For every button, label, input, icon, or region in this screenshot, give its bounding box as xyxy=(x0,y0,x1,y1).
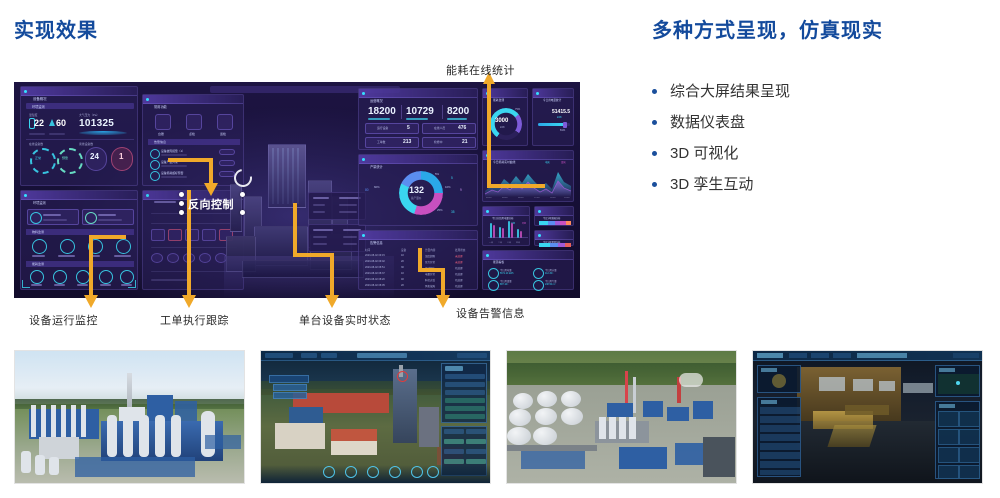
twin-clock xyxy=(457,353,487,358)
scene-foreground-rack xyxy=(75,457,195,477)
twin-title xyxy=(357,353,407,358)
scene-foreground-units xyxy=(521,451,585,469)
camera-tile[interactable] xyxy=(938,465,959,479)
panel-title-row xyxy=(445,366,463,371)
scene-tank xyxy=(513,393,533,409)
list-row[interactable] xyxy=(760,461,800,468)
cell-content: 振动超标 xyxy=(425,266,435,270)
bar-axis xyxy=(488,237,528,238)
scene-vessel xyxy=(619,417,626,439)
twin-toolbar-icon-6[interactable] xyxy=(427,466,439,478)
minimap-marker-icon xyxy=(956,381,960,385)
trend-tick-4: 12:00 xyxy=(534,197,539,199)
donut-center-value: 132 xyxy=(409,185,424,195)
panel-title-matrix xyxy=(154,201,176,203)
energy-icon-1[interactable] xyxy=(30,270,44,284)
trend-legend-2: 煤耗 xyxy=(561,160,566,164)
panel-group-power-bar[interactable]: 今日分组用电量分析 本期 同期 一线 二线 三线 四线 xyxy=(482,206,530,246)
cell-status: 已处理 xyxy=(455,272,463,276)
scene-vessel xyxy=(123,415,133,457)
selection-handle[interactable] xyxy=(240,192,245,197)
panel-header xyxy=(483,207,529,216)
interior-camera-grid-panel[interactable] xyxy=(935,401,980,479)
thumbnail-aerial-refinery[interactable] xyxy=(506,350,737,484)
ring-label-warning: 预警 xyxy=(62,156,68,160)
alert-row-time xyxy=(161,154,187,156)
twin-tag-label-1[interactable] xyxy=(269,375,309,383)
scene-vessel xyxy=(171,415,181,457)
cell-time: 2023-08-02 08:37 xyxy=(365,272,385,275)
summary-label-2: 今日用水量 xyxy=(545,268,557,272)
camera-tile[interactable] xyxy=(959,429,980,445)
donut-center-label: 总产量(t) xyxy=(411,196,421,200)
scene-window xyxy=(853,379,873,391)
stat-cell xyxy=(444,439,464,444)
kpi-stat-card-1[interactable] xyxy=(365,123,419,134)
panel-title-row xyxy=(761,400,777,404)
material-label-1 xyxy=(32,255,45,257)
stack2-seg-1 xyxy=(539,243,550,247)
bullet-dot-icon xyxy=(652,89,657,94)
interior-status xyxy=(953,353,979,358)
page-title-right: 多种方式呈现，仿真现实 xyxy=(652,14,883,43)
kpi-divider xyxy=(401,105,402,119)
summary-value-2: 412.30 t xyxy=(545,273,553,275)
scene-unit-blue xyxy=(643,401,663,417)
value-pressure: 101325 xyxy=(79,118,114,129)
panel-title-progress: 今日用电量统计 xyxy=(543,98,561,102)
tooltip-row xyxy=(343,243,357,245)
scene-vessel xyxy=(107,415,117,457)
scene-tank xyxy=(21,451,31,473)
summary-value-1: 5671.20 kWh xyxy=(500,273,514,275)
cell-content: 温度超限 xyxy=(425,254,435,258)
cell-status: 未处理 xyxy=(455,260,463,264)
table-header-status: 处理状态 xyxy=(455,248,465,252)
camera-tile[interactable] xyxy=(938,411,959,427)
cell-device: 4# xyxy=(401,278,404,281)
matrix-cell[interactable] xyxy=(202,229,216,241)
kpi-stat-label-2: 在线人员 xyxy=(434,126,445,130)
summary-label-1: 今日用电量 xyxy=(500,268,512,272)
panel-header xyxy=(359,231,477,240)
camera-tile[interactable] xyxy=(938,429,959,445)
tooltip-row xyxy=(343,236,357,238)
bullet-dot-icon xyxy=(652,182,657,187)
scene-unit-blue xyxy=(607,403,633,417)
tile-label-2: 点检 xyxy=(189,132,195,136)
scene-cooling-bank xyxy=(703,437,735,477)
energy-label-3 xyxy=(77,284,88,286)
thumbnail-digital-twin[interactable] xyxy=(260,350,491,484)
material-icon-4[interactable] xyxy=(116,239,131,254)
scene-column xyxy=(41,405,46,437)
kpi-value-3: 8200 xyxy=(447,106,469,117)
plant-column xyxy=(297,148,299,204)
scene-column xyxy=(31,405,36,437)
list-item-label: 3D 可视化 xyxy=(670,146,738,161)
summary-icon-4 xyxy=(533,280,544,291)
interior-nav-item[interactable] xyxy=(833,353,851,358)
cell-status: 已处理 xyxy=(455,278,463,282)
subpanel-title-alerts: 告警信息 xyxy=(154,140,166,144)
panel-title-gauge: 能耗监测 xyxy=(493,98,504,102)
divider xyxy=(29,133,45,135)
panel-env-monitor[interactable]: 设备概况 环境监测 温湿度 大气压力（Pa） 22 60 101325 在线设备… xyxy=(20,86,138,186)
label-pressure: 大气压力（Pa） xyxy=(79,113,99,117)
matrix-dot[interactable] xyxy=(167,253,179,263)
cell-time: 2023-08-02 09:15 xyxy=(365,254,385,257)
kpi-value-1: 18200 xyxy=(368,106,396,117)
material-icon-3[interactable] xyxy=(88,239,103,254)
panel-title-summary: 能源看板 xyxy=(493,260,504,264)
list-row[interactable] xyxy=(760,470,800,475)
twin-tag-label-2[interactable] xyxy=(273,384,307,391)
plant-column xyxy=(272,148,274,204)
interior-logo xyxy=(757,353,783,358)
trend-tick-1: 00:00 xyxy=(486,197,491,199)
scene-window-far xyxy=(903,383,933,393)
scene-conveyor xyxy=(845,405,889,415)
twin-nav-item[interactable] xyxy=(301,353,317,358)
thumbnail-interior-walkthrough[interactable] xyxy=(752,350,983,484)
panel-stacked-usage[interactable]: 今日分项用量分析 xyxy=(534,230,574,246)
metric-label xyxy=(98,214,116,216)
tooltip-header-label xyxy=(313,229,333,231)
scene-column xyxy=(61,405,66,437)
label-env: 温湿度 xyxy=(29,113,37,117)
twin-toolbar-icon-3[interactable] xyxy=(367,466,379,478)
tooltip-row xyxy=(313,211,325,213)
kpi-stat-label-1: 运行设备 xyxy=(377,126,388,130)
panel-header xyxy=(483,151,573,160)
stat-cell xyxy=(466,429,486,434)
stat-cell xyxy=(466,439,486,444)
twin-toolbar-icon-4[interactable] xyxy=(389,466,401,478)
summary-value-3: 887.10 t xyxy=(500,284,508,286)
summary-icon-3 xyxy=(488,280,499,291)
dashboard-canvas: 设备概况 环境监测 温湿度 大气压力（Pa） 22 60 101325 在线设备… xyxy=(14,82,580,298)
page-title-left: 实现效果 xyxy=(14,14,98,43)
camera-tile[interactable] xyxy=(959,447,980,463)
panel-header xyxy=(535,207,573,216)
scene-tank xyxy=(537,391,557,407)
list-row[interactable] xyxy=(760,434,800,441)
callout-label-single-device-status: 单台设备实时状态 xyxy=(299,312,391,328)
panel-header xyxy=(359,155,477,164)
gauge-value: 3000 xyxy=(495,118,508,124)
panel-kpi[interactable]: 运营概况 18200 10729 8200 运行设备 5 在线人员 476 工单… xyxy=(358,88,478,150)
label-device-offline: 离线设备数 xyxy=(79,142,93,146)
scene-column-tall xyxy=(633,377,636,413)
alert-row-icon xyxy=(150,171,160,181)
dashboard-screenshot: 设备概况 环境监测 温湿度 大气压力（Pa） 22 60 101325 在线设备… xyxy=(14,82,580,298)
twin-side-panel-top[interactable] xyxy=(441,363,487,423)
interior-title xyxy=(857,353,907,358)
value-humidity: 60 xyxy=(56,118,66,128)
preview-thumbnail xyxy=(772,374,786,388)
material-label-4 xyxy=(114,255,131,257)
panel-lower-left-monitor[interactable]: 环境监测 物料监测 xyxy=(20,190,138,290)
callout-label-reverse-control: 反向控制 xyxy=(188,196,234,212)
panel-title-row xyxy=(761,368,777,372)
corner-marker xyxy=(128,280,136,288)
table-header-content: 告警内容 xyxy=(425,248,435,252)
bar-series1-1 xyxy=(490,223,492,238)
stack2-seg-4 xyxy=(565,243,571,247)
energy-icon-4[interactable] xyxy=(99,270,113,284)
material-label-3 xyxy=(89,255,100,257)
gauge-unit: kWh xyxy=(500,126,505,129)
panel-title-trend: 今日能耗实时曲线 xyxy=(493,160,515,164)
scene-conveyor xyxy=(419,407,439,447)
list-row[interactable] xyxy=(760,425,800,432)
matrix-dot[interactable] xyxy=(199,253,211,263)
metric-icon-ring xyxy=(30,212,42,224)
list-row[interactable] xyxy=(760,443,800,450)
bar-series2-3 xyxy=(511,223,513,238)
donut-label-1: 5 xyxy=(451,176,453,180)
tile-label-3: 巡检 xyxy=(220,132,226,136)
tooltip-row xyxy=(339,204,357,206)
panel-stacked-energy[interactable]: 今日分项能耗分析 xyxy=(534,206,574,226)
list-item-label: 数据仪表盘 xyxy=(670,115,745,130)
interior-preview-panel[interactable] xyxy=(757,365,801,393)
trend-legend-1: 电耗 xyxy=(545,160,550,164)
cell-time: 2023-08-02 08:20 xyxy=(365,278,385,281)
summary-label-4: 今日用气量 xyxy=(545,279,557,283)
tile-label-1: 台账 xyxy=(158,132,164,136)
stack-seg-2 xyxy=(548,221,555,225)
energy-icon-3[interactable] xyxy=(76,270,90,284)
kpi-stat-label-4: 检修中 xyxy=(434,140,442,144)
summary-icon-1 xyxy=(488,268,499,279)
value-online-devices: 24 xyxy=(90,152,99,161)
list-row[interactable] xyxy=(760,407,800,414)
scene-tank xyxy=(535,408,557,425)
donut-label-3: 80 xyxy=(365,188,369,192)
cell-time: 2023-08-02 09:02 xyxy=(365,260,385,263)
bullet-dot-icon xyxy=(652,120,657,125)
alert-marker-icon[interactable] xyxy=(397,371,408,382)
gauge-percent: 75% xyxy=(515,108,520,111)
plant-column xyxy=(292,148,294,204)
kpi-value-2: 10729 xyxy=(406,106,434,117)
metric-value xyxy=(98,219,122,221)
list-item: 3D 孪生互动 xyxy=(652,169,992,200)
stack2-seg-3 xyxy=(558,243,565,247)
corner-marker xyxy=(22,280,30,288)
twin-toolbar-icon-2[interactable] xyxy=(345,466,357,478)
twin-topbar-logo xyxy=(265,353,293,358)
panel-title-stacked: 今日分项能耗分析 xyxy=(543,216,561,220)
scene-vessel xyxy=(629,417,636,439)
plant-column xyxy=(277,148,279,204)
cell-content: 电量异常 xyxy=(425,272,435,276)
alert-row-time xyxy=(161,165,187,167)
cell-device: 2# xyxy=(401,284,404,287)
scene-hall xyxy=(331,441,377,455)
cell-content: 料位过低 xyxy=(425,278,435,282)
interior-map-panel[interactable] xyxy=(935,365,980,397)
scene-tank xyxy=(533,427,557,445)
plant-column xyxy=(282,148,284,204)
kpi-stat-value-3: 213 xyxy=(403,139,411,145)
panel-header xyxy=(535,231,573,240)
kpi-underline-2 xyxy=(406,118,428,120)
matrix-cell[interactable] xyxy=(185,229,199,241)
panel-data-row xyxy=(445,374,485,379)
panel-header xyxy=(483,89,527,98)
trend-area-chart xyxy=(483,165,575,199)
donut-pct-3: 60% xyxy=(374,185,380,189)
list-row[interactable] xyxy=(760,416,800,423)
list-item: 3D 可视化 xyxy=(652,138,992,169)
panel-power-progress[interactable]: 今日用电量统计 51415.5 kWh 81% xyxy=(532,88,574,146)
subpanel-title-energy: 能耗监测 xyxy=(32,262,44,266)
matrix-dot[interactable] xyxy=(183,253,195,263)
cell-time: 2023-08-02 08:05 xyxy=(365,284,385,287)
kpi-stat-value-1: 5 xyxy=(407,125,410,131)
panel-data-row xyxy=(445,398,485,403)
scene-tank xyxy=(509,409,531,426)
tile-ledger-icon[interactable] xyxy=(155,114,171,130)
scene-vessel xyxy=(139,415,149,457)
panel-title-common: 常用功能 xyxy=(154,104,167,109)
cell-status: 已处理 xyxy=(455,284,463,288)
selection-handle[interactable] xyxy=(179,210,184,215)
panel-title-bar: 今日分组用电量分析 xyxy=(492,216,514,220)
energy-label-4 xyxy=(100,284,111,286)
pressure-glow xyxy=(79,131,127,135)
stack-seg-5 xyxy=(566,221,571,225)
scene-tank xyxy=(35,455,45,475)
tile-spotcheck-icon[interactable] xyxy=(186,114,202,130)
cell-status: 未处理 xyxy=(455,254,463,258)
trend-tick-6: 20:00 xyxy=(564,197,569,199)
progress-value: 51415.5 xyxy=(552,109,570,115)
kpi-stat-value-4: 21 xyxy=(462,139,468,145)
material-label-2 xyxy=(58,255,75,257)
kpi-underline-1 xyxy=(368,118,390,120)
camera-tile[interactable] xyxy=(938,447,959,463)
panel-header xyxy=(483,251,573,260)
cell-status: 已处理 xyxy=(455,266,463,270)
twin-toolbar-icon-5[interactable] xyxy=(411,466,423,478)
twin-nav-item[interactable] xyxy=(321,353,337,358)
tile-patrol-icon[interactable] xyxy=(217,114,233,130)
callout-label-device-alarm-info: 设备告警信息 xyxy=(456,305,525,321)
subpanel-title-material: 物料监测 xyxy=(32,230,44,234)
summary-icon-2 xyxy=(533,268,544,279)
interior-nav-item[interactable] xyxy=(789,353,807,358)
metric-icon-ring xyxy=(85,212,97,224)
scene-column xyxy=(81,405,86,437)
cell-content: 压力异常 xyxy=(425,260,435,264)
scene-warehouse xyxy=(39,437,79,459)
gauge-ring-normal xyxy=(30,148,56,174)
alert-row-label-2: 设备产量异常 xyxy=(161,160,178,164)
selection-handle[interactable] xyxy=(240,210,245,215)
alert-row-label-3: 设备能耗超标预警 xyxy=(161,171,183,175)
matrix-cell[interactable] xyxy=(151,229,165,241)
bar-cat-4: 四线 xyxy=(516,241,520,244)
feature-bullet-list: 综合大屏结果呈现 数据仪表盘 3D 可视化 3D 孪生互动 xyxy=(652,76,992,200)
bar-series1-3 xyxy=(508,221,510,238)
scene-ramp xyxy=(827,425,876,447)
metric-value xyxy=(43,219,67,221)
scene-tank xyxy=(561,408,583,425)
bar-cat-2: 二线 xyxy=(498,241,502,244)
selection-handle[interactable] xyxy=(179,192,184,197)
panel-production-donut[interactable]: 产量统计 132 总产量(t) 5% 5 10% 9 60% 80 25% 35 xyxy=(358,154,478,226)
list-row[interactable] xyxy=(760,452,800,459)
kpi-stat-card-2[interactable] xyxy=(422,123,476,134)
alert-row-icon xyxy=(150,149,160,159)
panel-energy-gauge[interactable]: 能耗监测 3000 kWh 75% xyxy=(482,88,528,146)
material-icon-2[interactable] xyxy=(60,239,75,254)
panel-header xyxy=(21,87,137,96)
progress-unit: kWh xyxy=(557,116,562,119)
list-item-label: 综合大屏结果呈现 xyxy=(670,84,790,99)
camera-tile[interactable] xyxy=(959,411,980,427)
list-item-label: 3D 孪生互动 xyxy=(670,177,753,192)
gauge-ring-warning xyxy=(57,148,83,174)
thumbnail-aerial-plant[interactable] xyxy=(14,350,245,484)
progress-thumb[interactable] xyxy=(563,122,567,128)
bullet-dot-icon xyxy=(652,151,657,156)
panel-energy-summary[interactable]: 能源看板 今日用电量 5671.20 kWh 今日用水量 412.30 t 今日… xyxy=(482,250,574,290)
twin-toolbar-icon-1[interactable] xyxy=(323,466,335,478)
label-device-status: 在线设备数 xyxy=(29,142,43,146)
value-offline-devices: 1 xyxy=(119,152,123,161)
panel-data-row xyxy=(445,414,485,419)
interior-list-panel[interactable] xyxy=(757,397,801,477)
panel-title-donut: 产量统计 xyxy=(370,164,383,169)
matrix-dot[interactable] xyxy=(151,253,163,263)
progress-fill xyxy=(538,123,564,126)
panel-energy-trend[interactable]: 今日能耗实时曲线 电耗 煤耗 xyxy=(482,150,574,202)
panel-title-kpi: 运营概况 xyxy=(370,98,383,103)
interior-nav-item[interactable] xyxy=(811,353,829,358)
panel-header xyxy=(143,95,243,104)
tooltip-row xyxy=(313,236,327,238)
divider xyxy=(49,133,65,135)
trend-tick-3: 08:00 xyxy=(518,197,523,199)
plant-column xyxy=(287,148,289,204)
twin-tag-label-3[interactable] xyxy=(273,392,307,399)
cell-device: 2# xyxy=(401,260,404,263)
matrix-footer xyxy=(151,279,191,281)
donut-pct-4: 25% xyxy=(437,208,443,212)
tooltip-row xyxy=(313,243,327,245)
cell-device: 1# xyxy=(401,272,404,275)
stat-cell xyxy=(444,459,464,464)
tooltip-row xyxy=(313,204,325,206)
scene-smoke-plume xyxy=(679,373,703,387)
scene-vessel xyxy=(609,417,616,439)
energy-icon-2[interactable] xyxy=(53,270,67,284)
scene-window xyxy=(819,377,845,391)
matrix-cell[interactable] xyxy=(168,229,182,241)
material-icon-1[interactable] xyxy=(32,239,47,254)
cell-device: 1# xyxy=(401,254,404,257)
panel-alarm-table[interactable]: 告警信息 时间 设备 告警内容 处理状态 2023-08-02 09:15 1#… xyxy=(358,230,478,290)
selection-handle[interactable] xyxy=(179,201,184,206)
stat-cell xyxy=(444,429,464,434)
camera-tile[interactable] xyxy=(959,465,980,479)
panel-title-env: 设备概况 xyxy=(33,96,47,101)
